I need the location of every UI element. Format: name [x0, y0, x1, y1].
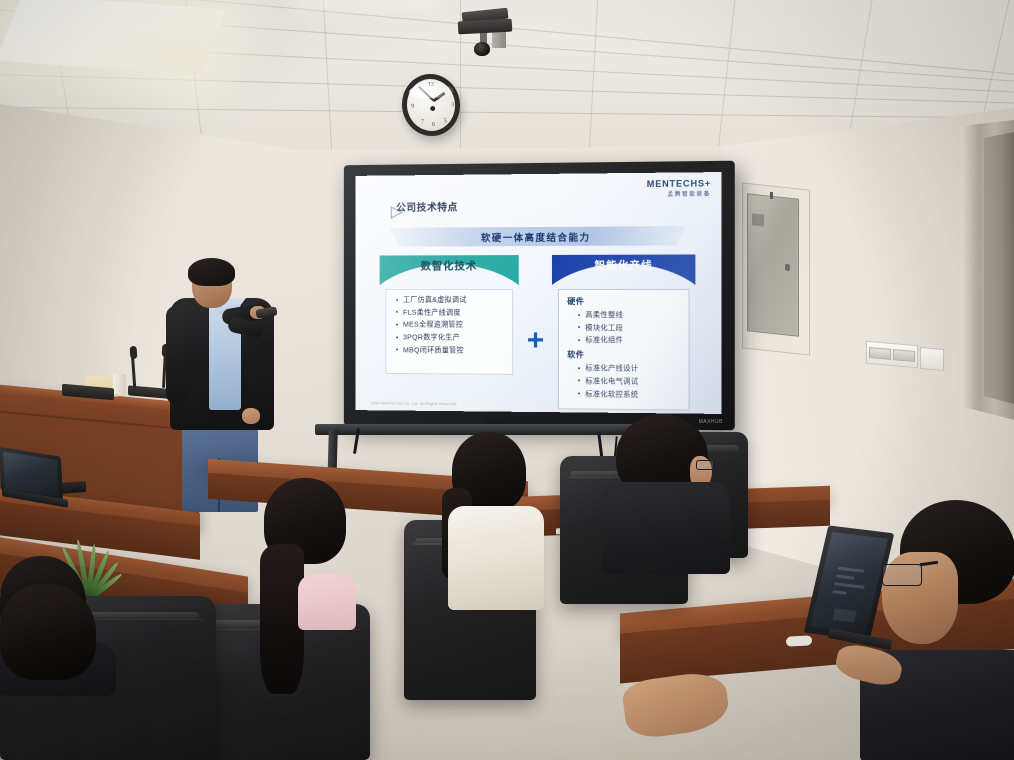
desk-object	[786, 635, 812, 646]
display-screen[interactable]: MENTECHS+ 孟腾智能装备 公司技术特点 软硬一体高度结合能力	[355, 172, 721, 414]
list-item: 标准化组件	[567, 337, 684, 345]
attendee-head-near-left	[0, 584, 96, 680]
glasses-icon	[882, 564, 922, 586]
column-left-body: 工厂仿真&虚拟调试 FLS柔性产线调度 MES全程追溯管控 3PQR数字化生产 …	[385, 289, 512, 375]
column-right-body: 硬件 高柔性整线 模块化工段 标准化组件 软件 标准化产线设计 标准化电气调试 …	[558, 289, 689, 411]
laptop-screen-content	[834, 582, 865, 589]
clock-numeral: 6	[432, 122, 435, 128]
column-left: 数智化技术 工厂仿真&虚拟调试 FLS柔性产线调度 MES全程追溯管控 3PQR…	[380, 255, 519, 409]
attendee-glasses-right	[876, 500, 1014, 760]
column-left-list: 工厂仿真&虚拟调试 FLS柔性产线调度 MES全程追溯管控 3PQR数字化生产 …	[394, 296, 508, 354]
clock-hour-hand	[432, 92, 445, 102]
column-left-cap: 数智化技术	[380, 255, 519, 289]
list-item: 模块化工段	[567, 324, 684, 332]
play-triangle-icon	[380, 198, 391, 214]
slide-banner-text: 软硬一体高度结合能力	[481, 229, 591, 244]
column-right-hardware-list: 高柔性整线 模块化工段 标准化组件	[567, 311, 684, 344]
camera-lens-icon	[474, 42, 490, 56]
list-item: 3PQR数字化生产	[394, 334, 508, 342]
podium-cup	[113, 374, 126, 394]
list-item: 标准化产线设计	[567, 364, 684, 372]
glasses-icon	[696, 460, 714, 470]
slide-logo: MENTECHS+ 孟腾智能装备	[647, 178, 711, 198]
attendee-center	[604, 414, 722, 574]
slide-banner: 软硬一体高度结合能力	[389, 226, 685, 246]
conference-room-scene: 3 6 9 12 5 7 MAXHUB MENTECHS+ 孟腾智能装备	[0, 0, 1014, 760]
presentation-remote[interactable]	[255, 306, 277, 318]
slide-columns: 数智化技术 工厂仿真&虚拟调试 FLS柔性产线调度 MES全程追溯管控 3PQR…	[380, 254, 696, 410]
light-switch-1[interactable]	[869, 347, 891, 360]
laptop-screen-content	[836, 574, 855, 579]
plus-connector-icon: +	[527, 326, 544, 356]
electrical-panel-latch[interactable]	[785, 264, 790, 272]
list-item: 工厂仿真&虚拟调试	[394, 296, 508, 303]
doorway-opening[interactable]	[984, 132, 1014, 404]
laptop-screen-content	[832, 608, 857, 622]
column-right: 智能化产线 硬件 高柔性整线 模块化工段 标准化组件 软件 标准化产线设计	[552, 254, 695, 410]
list-item: MBQ闭环质量管控	[394, 346, 508, 354]
clock-numeral: 7	[421, 119, 424, 125]
column-right-software-list: 标准化产线设计 标准化电气调试 标准化软控系统	[567, 364, 684, 398]
clock-numeral: 5	[444, 118, 447, 124]
column-left-title: 数智化技术	[421, 258, 477, 273]
laptop-screen-content	[838, 567, 865, 573]
list-item: 标准化电气调试	[567, 377, 684, 385]
clock-numeral: 3	[451, 102, 454, 108]
gooseneck-microphone-head	[130, 346, 138, 359]
wall-socket-plate[interactable]	[920, 347, 944, 371]
interactive-flat-panel-display[interactable]: MAXHUB MENTECHS+ 孟腾智能装备 公司技术特点 软硬一体高	[340, 163, 732, 428]
presentation-slide: MENTECHS+ 孟腾智能装备 公司技术特点 软硬一体高度结合能力	[355, 172, 721, 414]
electrical-panel-label	[752, 213, 764, 226]
list-item: FLS柔性产线调度	[394, 309, 508, 316]
slide-logo-latin: MENTECHS+	[647, 178, 711, 189]
clock-numeral: 9	[411, 104, 414, 110]
camera-bracket	[492, 30, 506, 48]
light-switch-plate[interactable]	[866, 341, 918, 369]
list-item: 高柔性整线	[567, 311, 684, 318]
clock-numeral: 12	[428, 82, 434, 88]
slide-title: 公司技术特点	[396, 198, 458, 213]
led-panel-light-glow	[293, 0, 458, 10]
attendee-white-top	[432, 432, 552, 622]
presenter-left-arm	[166, 306, 186, 404]
slide-header: 公司技术特点	[380, 196, 713, 215]
list-item: MES全程追溯管控	[394, 321, 508, 328]
attendee-top	[448, 506, 544, 610]
ceiling-camera	[452, 0, 516, 56]
subheading-software: 软件	[567, 349, 684, 361]
laptop-screen-content	[832, 590, 847, 595]
attendee-top	[298, 574, 356, 630]
electrical-panel-screw	[770, 192, 773, 199]
presenter-hand-left	[242, 408, 260, 424]
attendee-shoulders	[602, 482, 730, 574]
slide-logo-chinese: 孟腾智能装备	[647, 189, 711, 198]
attendee-ponytail	[254, 478, 364, 708]
column-right-cap: 智能化产线	[552, 254, 695, 289]
column-right-title: 智能化产线	[594, 258, 652, 273]
clock-center-pin	[430, 106, 435, 111]
subheading-hardware: 硬件	[567, 296, 684, 307]
clock-minute-hand	[417, 86, 434, 102]
list-item: 标准化软控系统	[567, 390, 684, 398]
light-switch-2[interactable]	[893, 349, 915, 362]
presenter-hair	[188, 258, 235, 286]
